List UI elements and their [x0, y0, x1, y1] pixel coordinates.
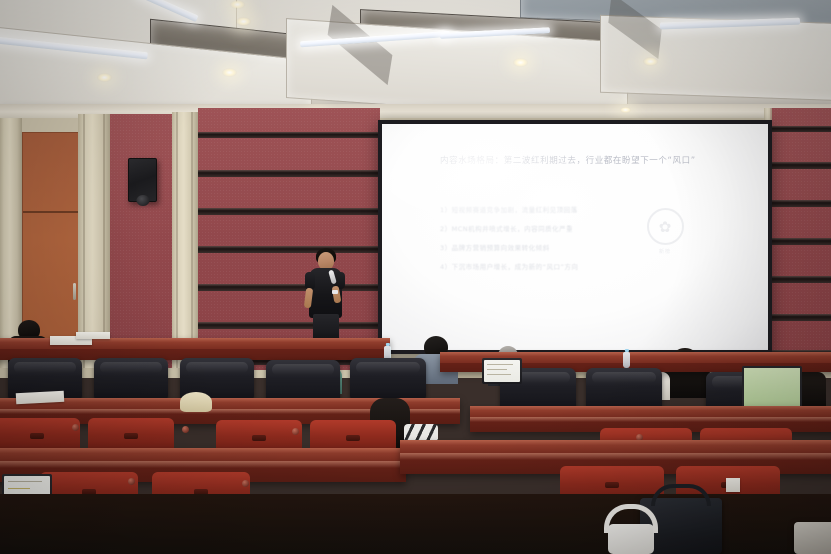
documents [76, 332, 110, 339]
grey-bag [794, 522, 831, 554]
wall-speaker [128, 158, 157, 202]
water-bottle [623, 352, 630, 368]
downlight [222, 68, 237, 77]
downlight [643, 57, 658, 66]
wall-slat [770, 314, 831, 321]
desk-knob [292, 428, 299, 435]
white-handbag [608, 524, 654, 554]
wall-slat [198, 208, 380, 215]
wall-panel [110, 114, 172, 368]
wall-slat [770, 238, 831, 245]
desk-knob [72, 424, 79, 431]
desk-knob [242, 480, 249, 487]
chair[interactable] [266, 360, 340, 402]
chair[interactable] [350, 358, 426, 400]
chair[interactable] [88, 418, 174, 452]
logo-caption: 新榜 [659, 248, 671, 255]
small-card [726, 478, 740, 492]
wall-slat [198, 132, 380, 138]
downlight [97, 73, 112, 82]
slide-bullet: 1）短视频赛道竞争加剧，流量红利见顶回落 [440, 204, 578, 214]
slide-bullet: 4）下沉市场用户增长，成为新的“风口”方向 [440, 261, 578, 271]
slide-bullet: 3）品牌方营销预算向效果转化倾斜 [440, 242, 578, 252]
downlight [620, 107, 631, 113]
wall-slat [770, 126, 831, 132]
chair[interactable] [94, 358, 168, 400]
downlight [236, 17, 251, 26]
lecture-hall-photo: 内容水场格局：第二波红利期过去，行业都在盼望下一个“风口” 1）短视频赛道竞争加… [0, 0, 831, 554]
wristwatch [332, 290, 338, 294]
slide-bullet: 2）MCN机构井喷式增长，内容同质化严重 [440, 223, 578, 233]
wall-slat [770, 276, 831, 283]
desk-monitor [742, 366, 802, 410]
downlight [513, 58, 528, 67]
wall-slat [770, 200, 831, 207]
slide-bullet-list: 1）短视频赛道竞争加剧，流量红利见顶回落 2）MCN机构井喷式增长，内容同质化严… [440, 204, 578, 271]
laptop[interactable] [482, 358, 522, 384]
pilaster [78, 114, 110, 368]
slide-logo: ✿ 新榜 [644, 208, 686, 260]
pilaster [172, 112, 198, 368]
chair[interactable] [0, 418, 80, 452]
desk-knob [182, 426, 189, 433]
projection-screen: 内容水场格局：第二波红利期过去，行业都在盼望下一个“风口” 1）短视频赛道竞争加… [378, 120, 772, 354]
wall-slat [198, 170, 380, 177]
chair[interactable] [586, 368, 662, 410]
projected-slide: 内容水场格局：第二波红利期过去，行业都在盼望下一个“风口” 1）短视频赛道竞争加… [382, 124, 768, 350]
desk-knob [128, 478, 135, 485]
attendee-hat [180, 392, 212, 412]
slide-title: 内容水场格局：第二波红利期过去，行业都在盼望下一个“风口” [440, 154, 744, 166]
wall-slat [770, 162, 831, 169]
downlight [230, 0, 245, 9]
door-handle[interactable] [73, 283, 76, 300]
logo-mark-icon: ✿ [647, 208, 684, 245]
